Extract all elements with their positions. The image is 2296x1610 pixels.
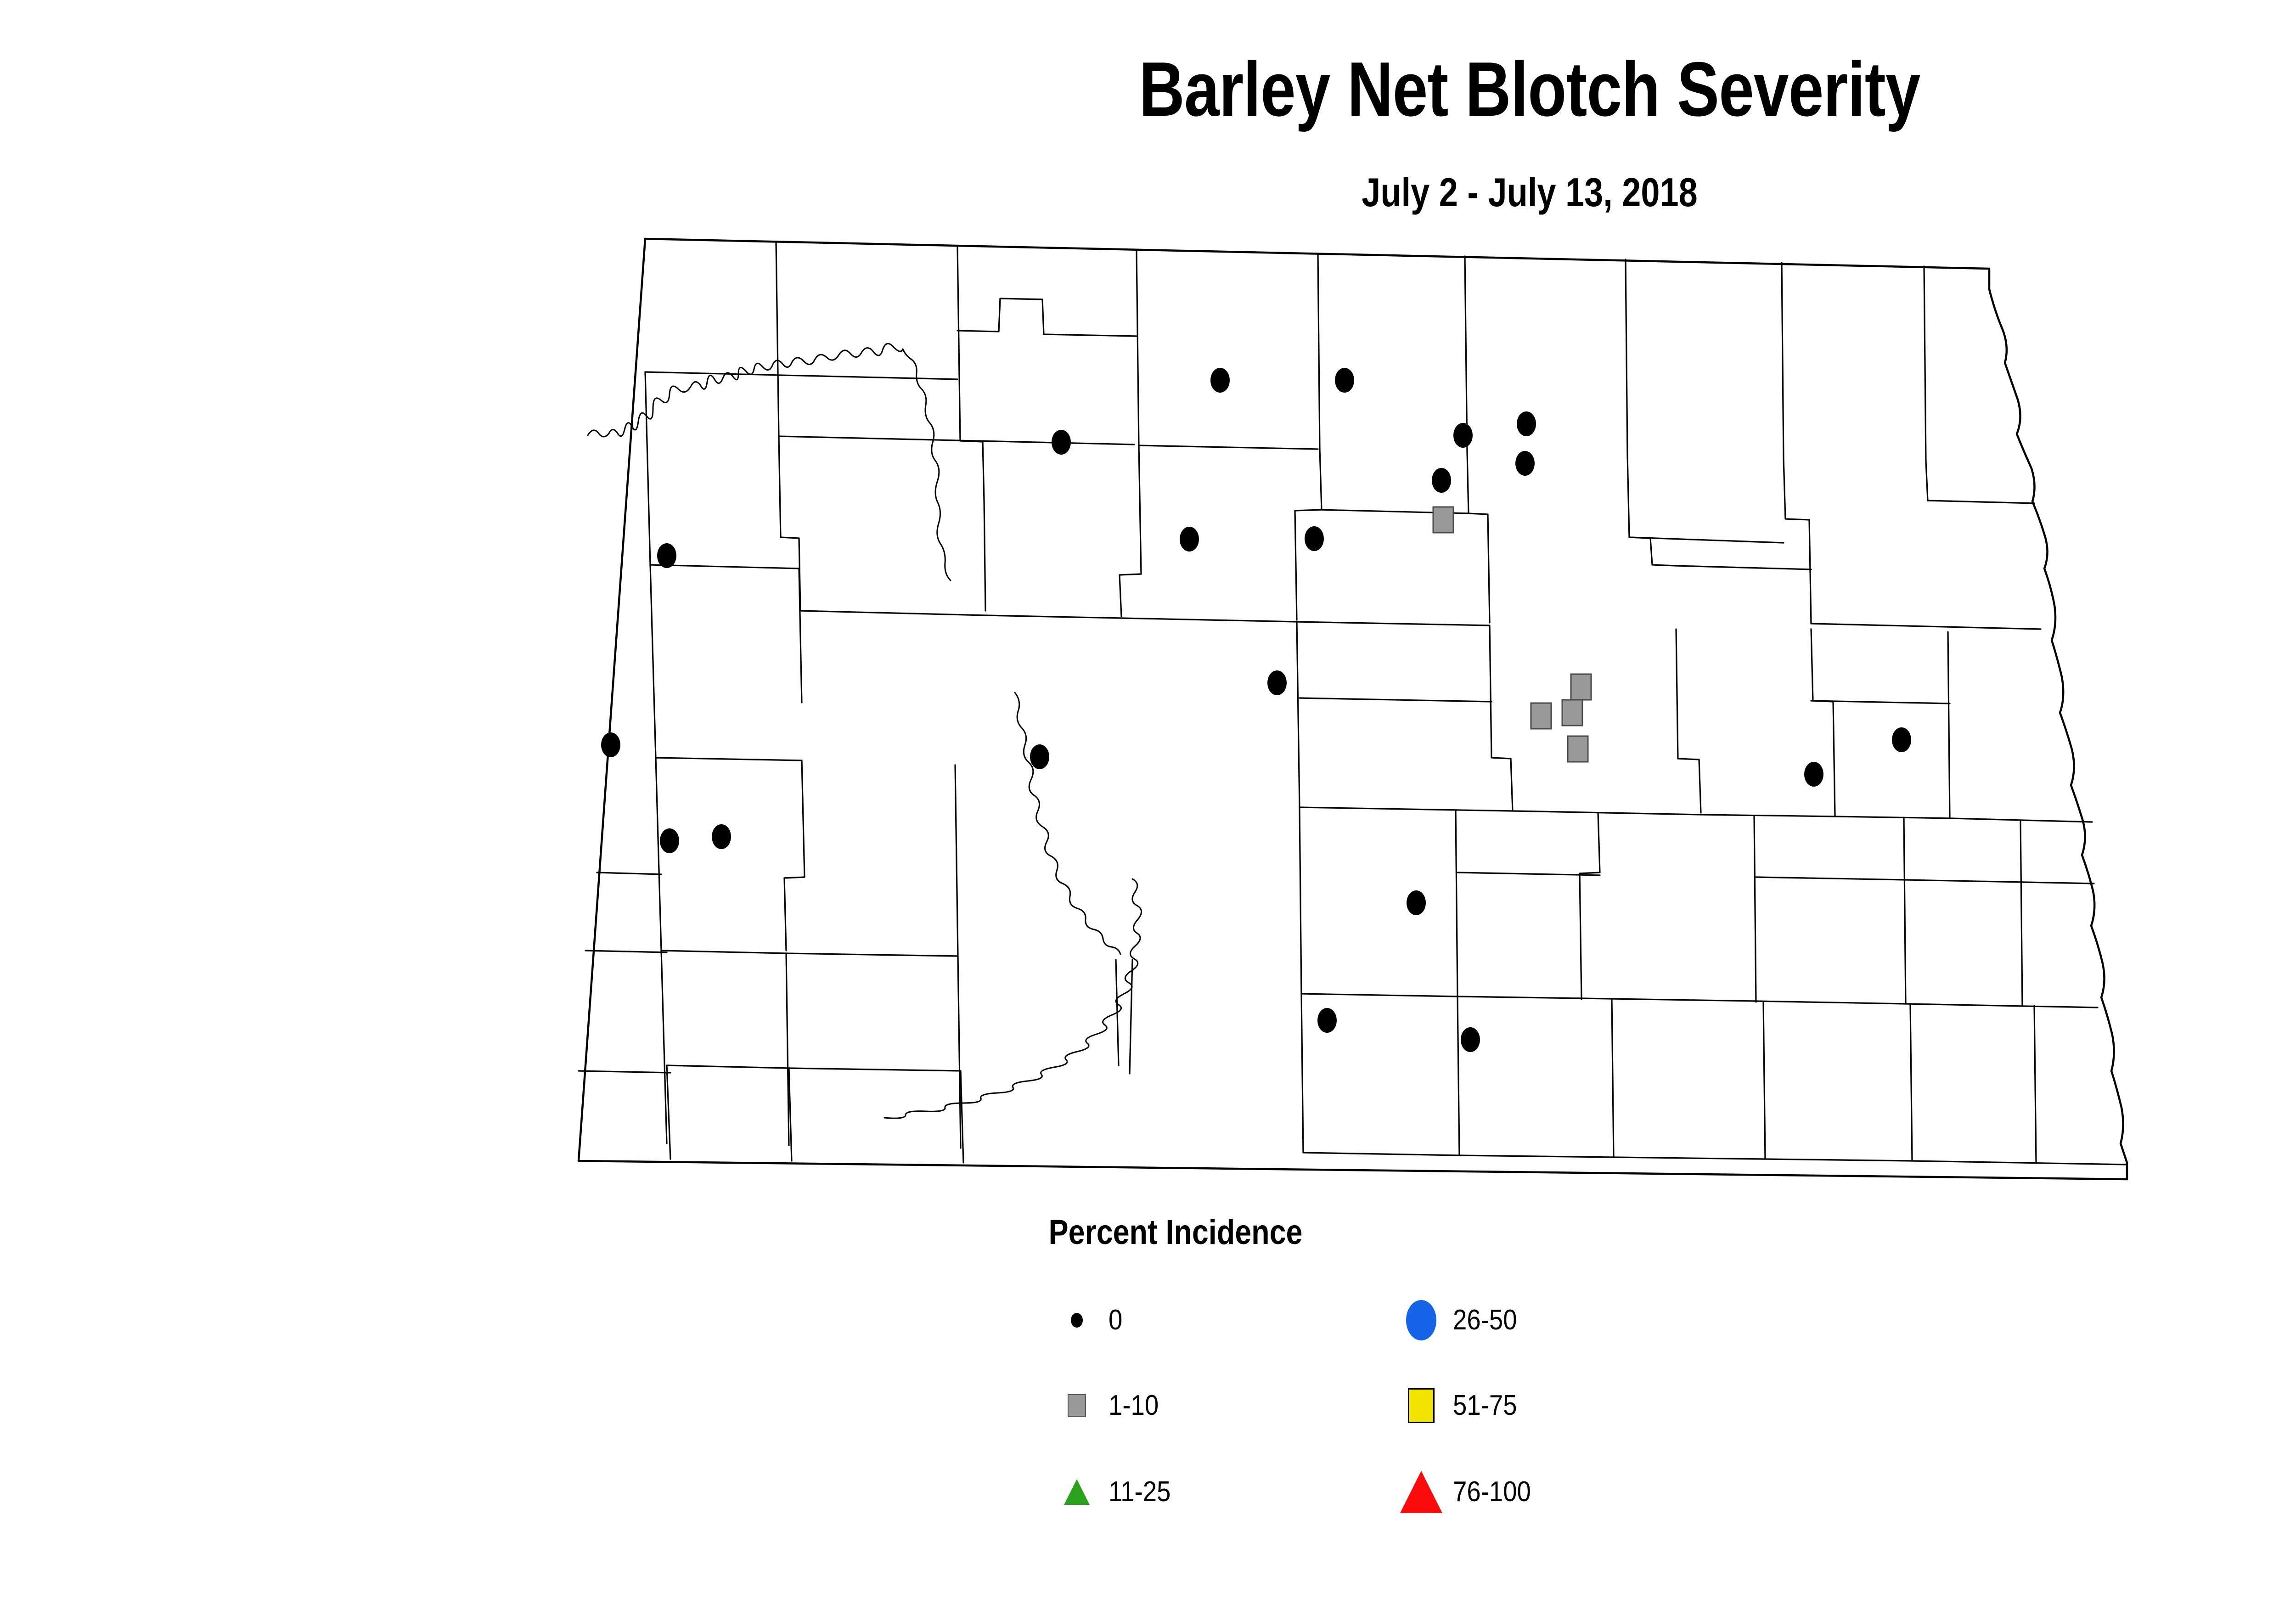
black-circle-icon [1052,1300,1102,1341]
marker-dot[interactable] [1517,411,1536,436]
legend-label: 51-75 [1453,1391,1517,1420]
marker-square[interactable] [1568,736,1588,762]
marker-square[interactable] [1571,674,1591,700]
page-title: Barley Net Blotch Severity [276,51,2296,128]
legend-item-76-100[interactable]: 76-100 [1396,1471,1542,1513]
map-svg [542,216,2177,1217]
marker-dot[interactable] [1804,762,1823,787]
marker-dot[interactable] [1305,526,1324,551]
marker-dot[interactable] [1052,430,1071,455]
marker-dot[interactable] [1180,527,1199,552]
marker-dot[interactable] [712,824,731,849]
marker-dot[interactable] [660,828,679,853]
page-subtitle: July 2 - July 13, 2018 [245,172,2296,213]
marker-dot[interactable] [1267,670,1287,695]
legend-label: 11-25 [1109,1478,1171,1506]
marker-dot[interactable] [1515,451,1535,476]
marker-square[interactable] [1562,700,1582,726]
red-triangle-icon [1396,1471,1446,1513]
marker-dot[interactable] [1892,727,1911,752]
legend-item-11-25[interactable]: 11-25 [1052,1471,1179,1513]
legend-item-51-75[interactable]: 51-75 [1396,1385,1526,1426]
marker-dot[interactable] [1432,468,1451,493]
north-dakota-map[interactable] [542,216,2177,1217]
gray-square-icon [1052,1385,1102,1426]
legend-item-1-10[interactable]: 1-10 [1052,1385,1165,1426]
green-triangle-icon [1052,1471,1102,1513]
legend-label: 1-10 [1109,1391,1159,1420]
legend-title: Percent Incidence [1027,1212,1324,1252]
legend-label: 26-50 [1453,1306,1517,1334]
legend-item-26-50[interactable]: 26-50 [1396,1300,1526,1341]
marker-dot[interactable] [601,732,620,757]
marker-dot[interactable] [657,543,676,568]
legend: Percent Incidence 0 1-10 11-25 26-50 51-… [1001,1212,1699,1575]
marker-square[interactable] [1433,507,1453,533]
marker-dot[interactable] [1335,368,1354,393]
marker-dot[interactable] [1317,1008,1337,1033]
blue-circle-icon [1396,1300,1446,1341]
marker-dot[interactable] [1453,423,1473,448]
legend-items: 0 1-10 11-25 26-50 51-75 76-100 [1001,1300,1699,1575]
yellow-square-icon [1396,1385,1446,1426]
legend-label: 0 [1109,1306,1122,1334]
legend-label: 76-100 [1453,1478,1531,1506]
marker-dot[interactable] [1030,744,1049,769]
legend-item-0[interactable]: 0 [1052,1300,1124,1341]
marker-dot[interactable] [1210,368,1230,393]
map-page: Barley Net Blotch Severity July 2 - July… [0,0,2296,1610]
marker-dot[interactable] [1407,890,1426,915]
marker-square[interactable] [1531,703,1551,729]
marker-dot[interactable] [1461,1027,1480,1052]
